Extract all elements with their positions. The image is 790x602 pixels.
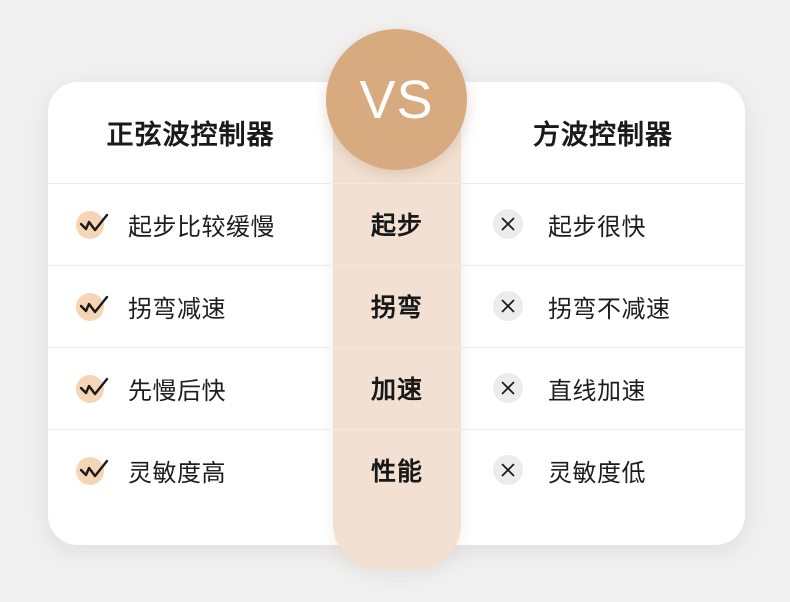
row-2-category-cell: 拐弯 [333,265,461,347]
row-3-category-cell: 加速 [333,347,461,429]
row-4-right-label: 灵敏度低 [548,453,646,488]
row-3-left-label: 先慢后快 [128,371,226,406]
row-2-left-cell: 拐弯减速 [48,265,333,347]
row-3-right-cell: 直线加速 [461,347,745,429]
comparison-infographic: 正弦波控制器 方波控制器 起步比较缓慢 起步 [0,0,790,602]
check-circle-icon [76,289,110,323]
row-4-category-label: 性能 [371,452,423,488]
cross-circle-icon [494,289,528,323]
row-4-left-cell: 灵敏度高 [48,429,333,511]
row-3-category-label: 加速 [371,370,423,406]
row-2-right-cell: 拐弯不减速 [461,265,745,347]
row-1-category-cell: 起步 [333,183,461,265]
row-4-right-cell: 灵敏度低 [461,429,745,511]
cross-circle-icon [494,453,528,487]
table-row: 拐弯减速 拐弯 拐弯不减速 [48,265,745,347]
cross-circle-icon [494,371,528,405]
header-left-sine-wave-controller: 正弦波控制器 [48,82,333,183]
row-1-left-cell: 起步比较缓慢 [48,183,333,265]
check-circle-icon [76,453,110,487]
row-4-left-label: 灵敏度高 [128,453,226,488]
row-2-left-label: 拐弯减速 [128,289,226,324]
table-row: 先慢后快 加速 直线加速 [48,347,745,429]
row-2-category-label: 拐弯 [371,288,423,324]
vs-label: VS [359,73,433,127]
row-3-left-cell: 先慢后快 [48,347,333,429]
header-right-square-wave-controller: 方波控制器 [461,82,745,183]
row-1-right-label: 起步很快 [548,207,646,242]
table-row: 起步比较缓慢 起步 起步很快 [48,183,745,265]
check-circle-icon [76,207,110,241]
table-row: 灵敏度高 性能 灵敏度低 [48,429,745,511]
check-circle-icon [76,371,110,405]
row-2-right-label: 拐弯不减速 [548,289,671,324]
row-3-right-label: 直线加速 [548,371,646,406]
row-1-right-cell: 起步很快 [461,183,745,265]
cross-circle-icon [494,207,528,241]
row-4-category-cell: 性能 [333,429,461,511]
row-1-left-label: 起步比较缓慢 [128,207,275,242]
row-1-category-label: 起步 [371,206,423,242]
vs-badge: VS [326,29,467,170]
